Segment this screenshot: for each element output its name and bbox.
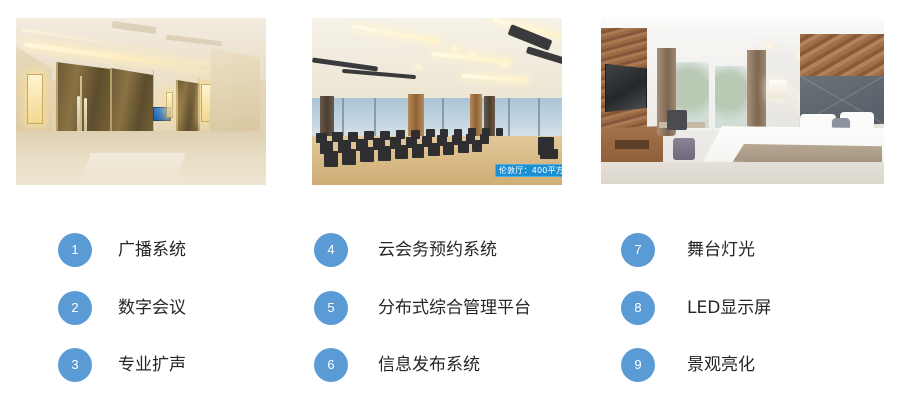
feature-column-3: 7 舞台灯光 8 LED显示屏 9 景观亮化 (621, 200, 900, 414)
television (605, 64, 647, 112)
ceiling-downlight (416, 64, 421, 69)
feature-number-badge: 3 (58, 348, 92, 382)
feature-number-badge: 5 (314, 291, 348, 325)
feature-item-6[interactable]: 6 信息发布系统 (314, 348, 480, 382)
feature-label: LED显示屏 (687, 298, 771, 318)
feature-list: 1 广播系统 2 数字会议 3 专业扩声 4 云会务预约系统 5 分布式综合管理… (0, 200, 900, 414)
feature-item-2[interactable]: 2 数字会议 (58, 291, 186, 325)
wall-sconce (27, 74, 43, 124)
feature-label: 分布式综合管理平台 (378, 298, 531, 318)
elevator-lobby-illustration (16, 18, 266, 185)
feature-label: 云会务预约系统 (378, 240, 497, 260)
feature-label: 广播系统 (118, 240, 186, 260)
ceiling-downlight (452, 46, 457, 51)
photo-strip: 伦敦厅：400平方 (0, 0, 900, 200)
feature-item-3[interactable]: 3 专业扩声 (58, 348, 186, 382)
elevator-lobby-photo (16, 18, 266, 185)
desk-chair (667, 110, 687, 130)
ceiling-downlight (767, 44, 772, 48)
feature-number-badge: 8 (621, 291, 655, 325)
feature-label: 舞台灯光 (687, 240, 755, 260)
feature-column-2: 4 云会务预约系统 5 分布式综合管理平台 6 信息发布系统 (314, 200, 604, 414)
ceiling-downlight (470, 52, 475, 57)
feature-number-badge: 9 (621, 348, 655, 382)
feature-item-5[interactable]: 5 分布式综合管理平台 (314, 291, 531, 325)
feature-number-badge: 1 (58, 233, 92, 267)
conference-hall-illustration: 伦敦厅：400平方 (312, 18, 562, 185)
headboard-wood-panel (800, 34, 884, 80)
ceiling-downlight (502, 62, 507, 67)
room-window (713, 64, 751, 130)
guest-room-photo (601, 18, 884, 184)
feature-column-1: 1 广播系统 2 数字会议 3 专业扩声 (58, 200, 348, 414)
console-drawer (615, 140, 649, 149)
ottoman-stool (673, 138, 695, 160)
guest-room-illustration (601, 18, 884, 184)
window-curtain (747, 50, 766, 130)
hall-size-caption: 伦敦厅：400平方 (495, 164, 562, 177)
room-floor (601, 162, 884, 184)
feature-number-badge: 7 (621, 233, 655, 267)
feature-number-badge: 6 (314, 348, 348, 382)
feature-label: 专业扩声 (118, 355, 186, 375)
floor-lamp (769, 80, 787, 98)
feature-item-1[interactable]: 1 广播系统 (58, 233, 186, 267)
feature-item-4[interactable]: 4 云会务预约系统 (314, 233, 497, 267)
feature-item-7[interactable]: 7 舞台灯光 (621, 233, 755, 267)
feature-number-badge: 2 (58, 291, 92, 325)
feature-item-9[interactable]: 9 景观亮化 (621, 348, 755, 382)
feature-label: 信息发布系统 (378, 355, 480, 375)
feature-label: 数字会议 (118, 298, 186, 318)
feature-number-badge: 4 (314, 233, 348, 267)
wall-sconce (166, 92, 173, 118)
floor-reflection (81, 153, 185, 181)
feature-item-8[interactable]: 8 LED显示屏 (621, 291, 771, 325)
feature-label: 景观亮化 (687, 355, 755, 375)
conference-hall-photo: 伦敦厅：400平方 (312, 18, 562, 185)
